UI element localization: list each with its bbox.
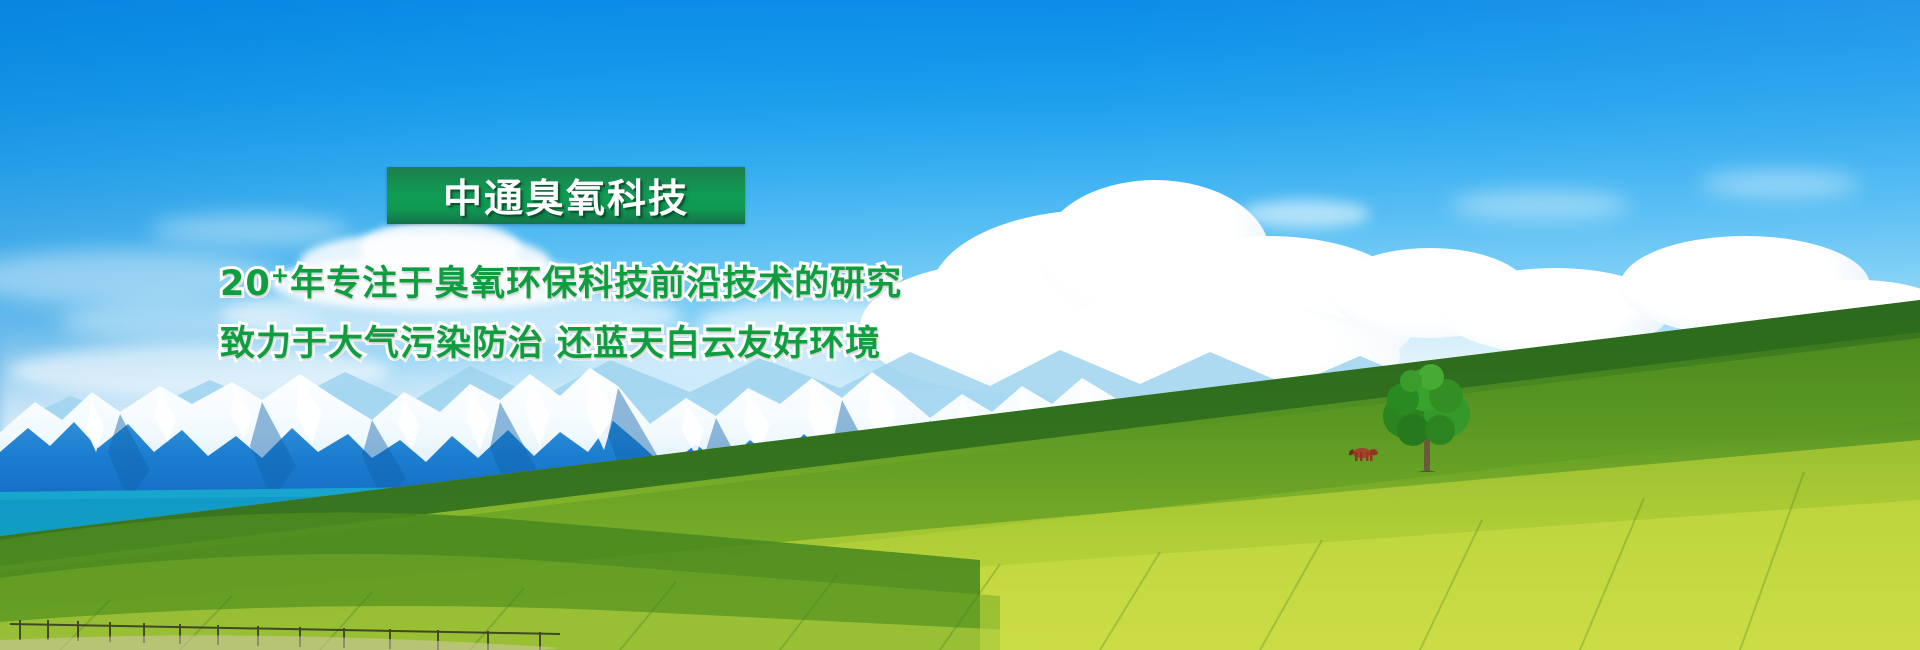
tagline-2-text: 致力于大气污染防治 还蓝天白云友好环境: [220, 324, 881, 364]
brand-badge: 中通臭氧科技: [387, 167, 745, 224]
tagline-1-prefix: 20: [220, 264, 271, 304]
brand-badge-label: 中通臭氧科技: [387, 167, 745, 224]
tagline-1-text: 年专注于臭氧环保科技前沿技术的研究: [290, 264, 902, 304]
tagline-line-2: 致力于大气污染防治 还蓝天白云友好环境: [220, 315, 881, 366]
tagline-line-1: 20+年专注于臭氧环保科技前沿技术的研究: [220, 255, 902, 306]
hero-banner: 中通臭氧科技 20+年专注于臭氧环保科技前沿技术的研究 致力于大气污染防治 还蓝…: [0, 0, 1920, 650]
banner-text-block: 中通臭氧科技 20+年专注于臭氧环保科技前沿技术的研究 致力于大气污染防治 还蓝…: [0, 0, 1920, 650]
tagline-1-superscript: +: [271, 263, 290, 288]
